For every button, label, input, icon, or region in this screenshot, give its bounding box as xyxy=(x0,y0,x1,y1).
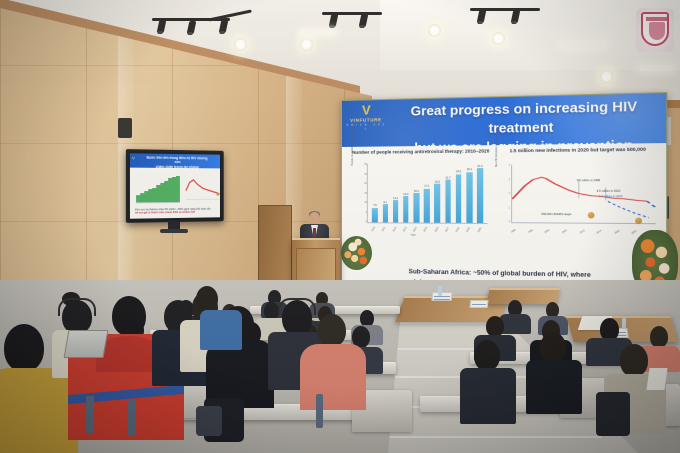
side-monitor-footer: Khu vực hạ Sahara châu Phi chiếm ~50% gá… xyxy=(135,207,216,215)
paper-handout xyxy=(646,368,667,390)
bar-xtick: 2012 xyxy=(391,224,398,234)
bag-strap xyxy=(316,394,323,428)
bar-ytick: 0 xyxy=(360,221,367,223)
goal-marker-2030 xyxy=(635,218,642,224)
laptop[interactable] xyxy=(64,330,109,358)
bar-column: 27.4 xyxy=(475,163,486,223)
bar-xtick: 2010 xyxy=(371,224,378,234)
line-xtick: 2000 xyxy=(545,230,551,235)
ceiling-panel-light xyxy=(560,42,606,48)
line-ytick: 0 xyxy=(504,221,510,223)
slide-title-line-1: Great progress on increasing HIV treatme… xyxy=(388,97,663,140)
bar-ytick: 10 xyxy=(360,202,367,204)
side-monitor-line-svg xyxy=(186,173,220,203)
mini-bar xyxy=(176,176,179,202)
line-ytick: 3 xyxy=(504,179,510,181)
ceiling-panel-light xyxy=(640,66,674,71)
line-ytick: 1 xyxy=(504,207,510,209)
bar-column: 9.1 xyxy=(380,164,390,223)
bar xyxy=(435,184,441,223)
line-ytick: 4 xyxy=(504,165,510,167)
chart-new-infections: 1.5 million new infections in 2020 but t… xyxy=(496,146,660,239)
annotation-peak: 3.0 million in 1998 xyxy=(577,179,600,182)
name-card xyxy=(432,292,453,301)
vinfuture-logo: V VINFUTURE P R I Z E · 2 0 2 1 xyxy=(346,104,386,135)
mini-bar xyxy=(148,189,152,202)
line-xtick: 2010 xyxy=(579,230,585,235)
downlight-icon xyxy=(492,32,505,45)
line-xtick: 2005 xyxy=(562,230,568,235)
wall-speaker xyxy=(118,118,132,138)
headphones-icon xyxy=(278,298,316,315)
bar-xtick: 2017 xyxy=(444,225,451,235)
name-card xyxy=(470,300,489,308)
side-monitor-screen: V Buớc tiến lớn trong điều trị HIV nhưng… xyxy=(130,153,220,218)
mini-bar xyxy=(156,185,160,202)
water-bottle xyxy=(438,286,442,296)
bar-column: 19.5 xyxy=(432,163,443,223)
bar-column: 21.7 xyxy=(443,163,454,223)
bar-column: 17.1 xyxy=(422,163,433,222)
bar-chart-xlabel: Year xyxy=(410,234,415,237)
side-monitor-body: Khu vực hạ Sahara châu Phi chiếm ~50% gá… xyxy=(130,168,220,219)
bar-column: 11.2 xyxy=(390,164,400,223)
line-chart-title: 1.5 million new infections in 2020 but t… xyxy=(496,146,660,155)
bar-chart-ylabel: People on antiretroviral therapy (millio… xyxy=(351,158,354,166)
bar-xtick: 2015 xyxy=(423,225,430,235)
line-chart-yticks: 43210 xyxy=(504,165,510,223)
bar xyxy=(414,193,420,223)
bar-ytick: 20 xyxy=(360,183,367,185)
line-xtick: 1995 xyxy=(528,229,534,234)
downlight-icon xyxy=(300,38,313,51)
mini-bar xyxy=(144,191,148,202)
mini-bar xyxy=(152,188,156,203)
mini-bar xyxy=(136,195,140,202)
vinfuture-mark-icon: V xyxy=(346,104,386,117)
vinfuture-subtitle: P R I Z E · 2 0 2 1 xyxy=(346,122,386,131)
bar-xtick: 2016 xyxy=(433,225,440,235)
mini-bar xyxy=(169,178,172,202)
downlight-icon xyxy=(600,70,613,83)
bar-column: 7.5 xyxy=(370,164,380,223)
bar xyxy=(445,180,451,223)
bar-xtick: 2020 xyxy=(476,225,483,235)
water-bottle xyxy=(622,318,626,328)
bar-column: 25.4 xyxy=(464,163,475,223)
bar xyxy=(424,189,430,223)
slide-body: Number of people receiving antiretrovira… xyxy=(342,143,666,296)
annotation-2020: 1.5 million in 2020 xyxy=(597,190,621,193)
bar-column: 13.3 xyxy=(401,163,411,222)
bar xyxy=(466,172,472,223)
projection-overlay xyxy=(511,164,656,225)
goal-marker-2020 xyxy=(588,212,595,218)
bar xyxy=(372,208,378,223)
bar-chart-yticks: 302520151050 xyxy=(360,164,367,223)
line-ytick: 2 xyxy=(504,193,510,195)
bar-xtick: 2019 xyxy=(466,225,473,235)
side-monitor-footer-line-2: trẻ em gái vị thành niên chiếm 63% ca nh… xyxy=(135,211,216,216)
university-crest-icon xyxy=(636,8,674,52)
handbag xyxy=(596,392,630,436)
slide-title-bar: V VINFUTURE P R I Z E · 2 0 2 1 Great pr… xyxy=(342,93,666,147)
side-monitor-bar-chart xyxy=(136,173,180,204)
door[interactable] xyxy=(258,205,292,291)
line-chart-xticks: 199019952000200520102015202020252030 xyxy=(511,230,656,233)
bar-xtick: 2013 xyxy=(402,224,409,234)
downlight-icon xyxy=(234,38,247,51)
bar-ytick: 30 xyxy=(360,164,367,166)
mini-bar xyxy=(140,193,144,202)
annotation-2020-alt: 1.5 million in 2020 xyxy=(599,195,623,198)
bag-strap xyxy=(128,400,136,436)
chart-antiretroviral-therapy: Number of people receiving antiretrovira… xyxy=(350,148,492,237)
front-table xyxy=(486,288,560,304)
bar-chart-plot: 7.59.111.213.315.017.119.521.724.525.427… xyxy=(367,163,488,224)
flower-arrangement xyxy=(341,236,372,270)
vinfuture-mark-icon: V xyxy=(132,155,135,160)
mini-bar xyxy=(172,177,175,202)
mini-bar xyxy=(161,183,164,202)
bar-column: 24.5 xyxy=(453,163,464,223)
bar-ytick: 15 xyxy=(360,192,367,194)
bar-ytick: 25 xyxy=(360,173,367,175)
line-xtick: 2015 xyxy=(597,230,603,235)
bag-strap xyxy=(86,396,94,434)
bar xyxy=(382,205,388,223)
bar-column: 15.0 xyxy=(411,163,421,222)
bar xyxy=(403,196,409,222)
mini-bar xyxy=(165,181,168,202)
slide-title: Great progress on increasing HIV treatme… xyxy=(388,97,663,147)
headphones-icon xyxy=(58,298,96,316)
bag xyxy=(196,406,222,436)
line-xtick: 2025 xyxy=(632,230,638,235)
line-xtick: 2020 xyxy=(614,230,620,235)
annotation-target: 500,000 UNAIDS target xyxy=(541,213,571,216)
bar-ytick: 5 xyxy=(360,212,367,214)
projection-screen: V VINFUTURE P R I Z E · 2 0 2 1 Great pr… xyxy=(341,92,667,297)
ceiling-panel-light xyxy=(300,30,336,35)
bar xyxy=(477,168,483,223)
side-monitor-line-chart xyxy=(186,173,220,203)
bar-xtick: 2018 xyxy=(455,225,462,235)
monitor-base xyxy=(160,229,188,233)
line-xtick: 1990 xyxy=(511,229,517,234)
bar-chart-xticks: 2010201120122013201420152016201720182019… xyxy=(367,228,488,231)
bar xyxy=(393,200,399,222)
bar-xtick: 2011 xyxy=(381,224,388,234)
side-monitor-title: V Buớc tiến lớn trong điều trị HIV nhưng… xyxy=(130,153,220,168)
bar-chart-title: Number of people receiving antiretrovira… xyxy=(350,148,492,156)
side-monitor: V Buớc tiến lớn trong điều trị HIV nhưng… xyxy=(126,149,224,223)
downlight-icon xyxy=(428,24,441,37)
lecture-hall-photo: V VINFUTURE P R I Z E · 2 0 2 1 Great pr… xyxy=(0,0,680,453)
bar xyxy=(456,174,462,223)
